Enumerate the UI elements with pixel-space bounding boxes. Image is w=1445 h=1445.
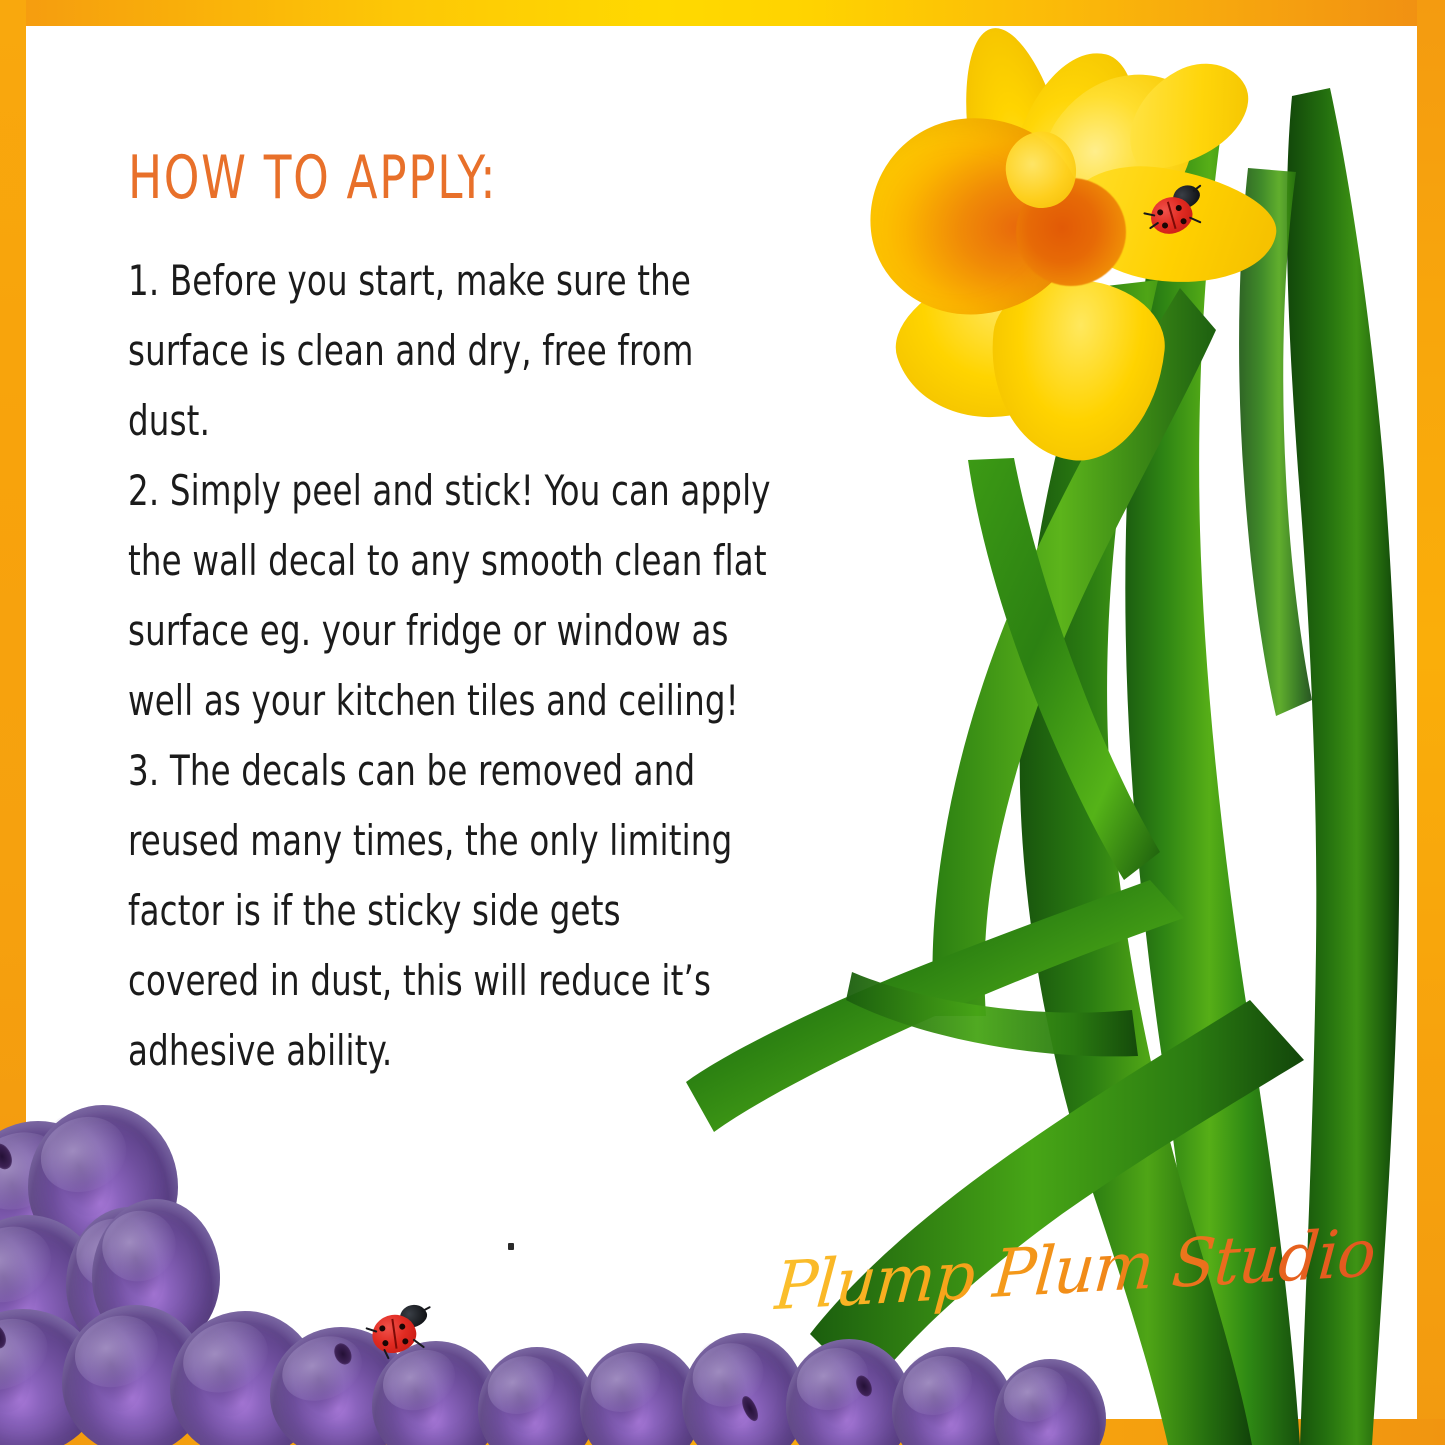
step-3-line-3: factor is if the sticky side gets [128,876,919,946]
plum [478,1347,596,1445]
step-1-line-3: dust. [128,386,919,456]
instruction-step-2: 2. Simply peel and stick! You can apply … [128,456,919,736]
page-title: HOW TO APPLY: [128,148,792,208]
ladybug-leg [413,1339,426,1349]
step-3-line-1: 3. The decals can be removed and [128,736,919,806]
step-1-line-1: 1. Before you start, make sure the [128,246,919,316]
step-3-line-2: reused many times, the only limiting [128,806,919,876]
step-2-line-3: surface eg. your fridge or window as [128,596,919,666]
ladybug-on-plum [369,1305,431,1358]
step-1-line-2: surface is clean and dry, free from [128,316,919,386]
instruction-step-1: 1. Before you start, make sure the surfa… [128,246,919,456]
instruction-step-3: 3. The decals can be removed and reused … [128,736,919,1086]
border-right [1417,0,1445,1445]
plum [786,1339,912,1445]
plum [994,1359,1106,1445]
instruction-card: HOW TO APPLY: 1. Before you start, make … [0,0,1445,1445]
step-3-line-4: covered in dust, this will reduce it’s [128,946,919,1016]
step-2-line-1: 2. Simply peel and stick! You can apply [128,456,919,526]
step-2-line-4: well as your kitchen tiles and ceiling! [128,666,919,736]
instructions-text-block: HOW TO APPLY: 1. Before you start, make … [128,148,918,1086]
step-2-line-2: the wall decal to any smooth clean flat [128,526,919,596]
step-3-line-5: adhesive ability. [128,1016,919,1086]
